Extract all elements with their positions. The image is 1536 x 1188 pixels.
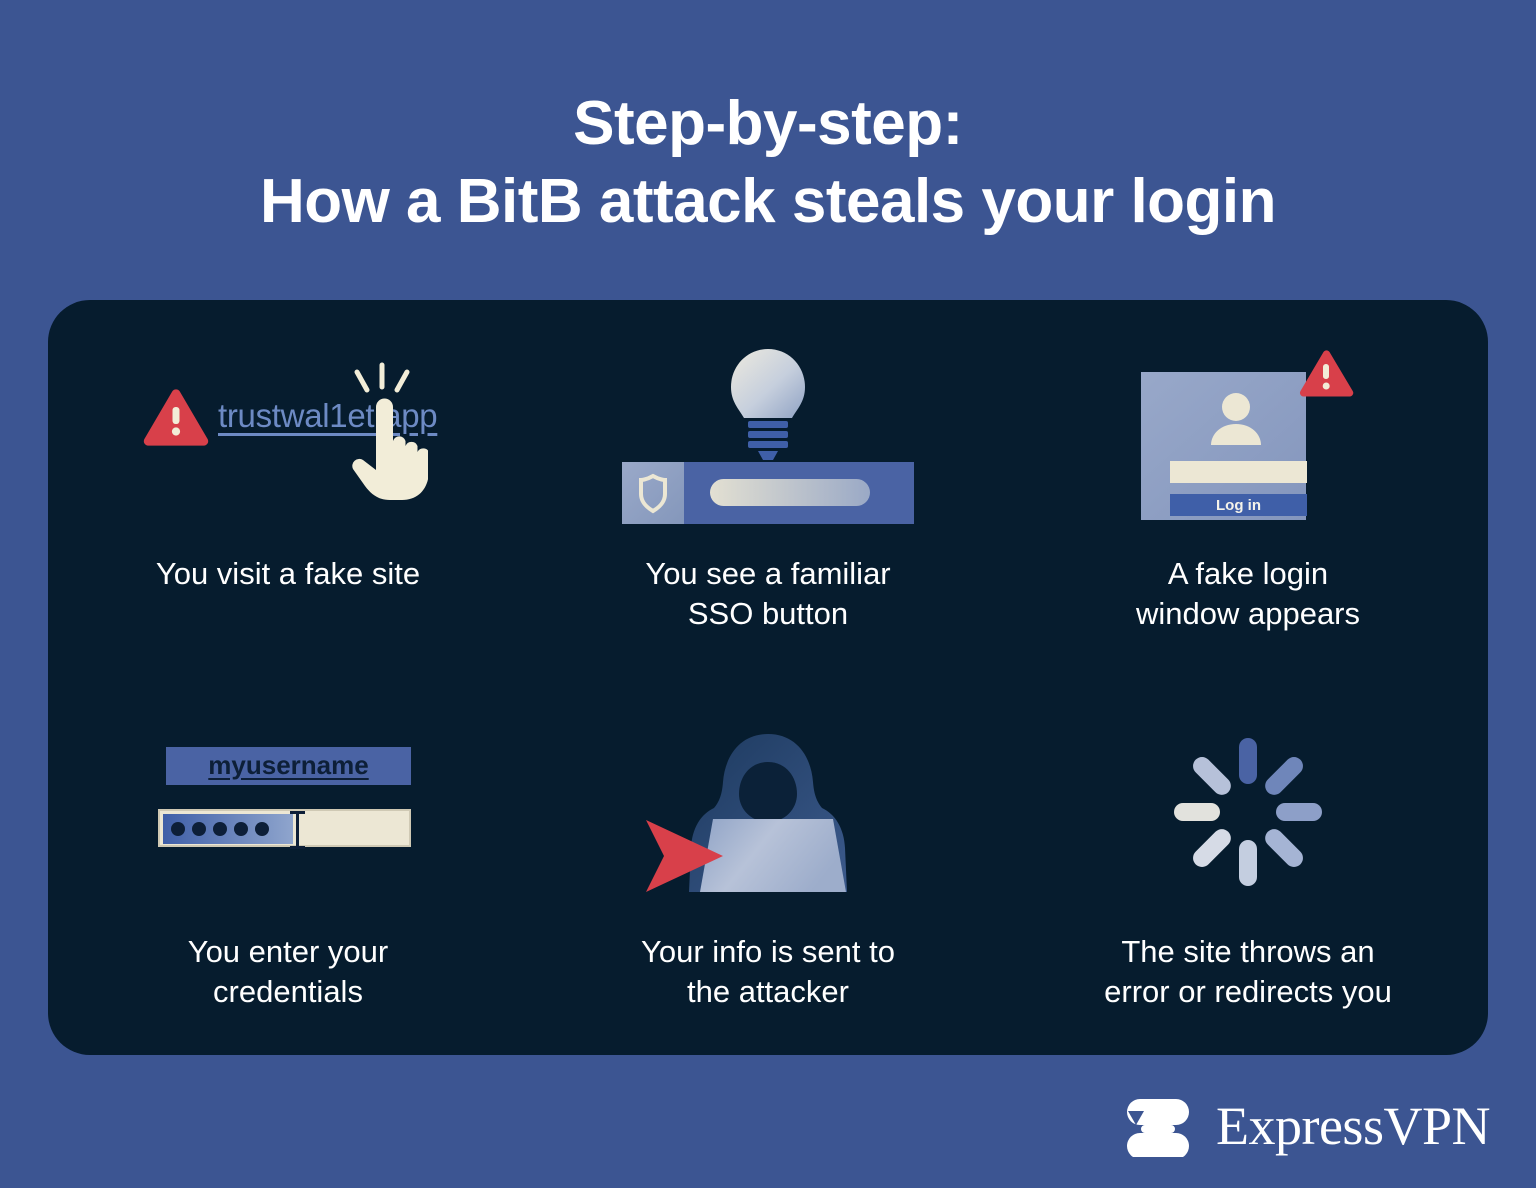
title-line-2: How a BitB attack steals your login [0, 162, 1536, 242]
sso-button-bar [622, 462, 914, 524]
step-visit-fake-site: trustwal1et.app [48, 300, 528, 678]
password-dot [192, 822, 206, 836]
step-5-caption: Your info is sent to the attacker [641, 932, 895, 1012]
step-2-artwork [528, 334, 1008, 534]
step-5-artwork [528, 712, 1008, 912]
steps-grid: trustwal1et.app [48, 300, 1488, 1055]
steps-card: trustwal1et.app [48, 300, 1488, 1055]
step-1-artwork: trustwal1et.app [48, 334, 528, 534]
step-enter-credentials: myusername You enter your crede [48, 678, 528, 1056]
password-field[interactable] [158, 809, 411, 847]
step-6-artwork [1008, 712, 1488, 912]
step-fake-login-window: Log in A fake login window appears [1008, 300, 1488, 678]
text-caret-icon [296, 811, 299, 849]
step-6-caption: The site throws an error or redirects yo… [1104, 932, 1392, 1012]
step-1-caption: You visit a fake site [156, 554, 420, 594]
password-selection [163, 814, 293, 844]
password-dot [213, 822, 227, 836]
expressvpn-wordmark: ExpressVPN [1216, 1099, 1490, 1153]
username-field[interactable]: myusername [166, 747, 411, 785]
step-error-or-redirect: The site throws an error or redirects yo… [1008, 678, 1488, 1056]
login-input-field [1170, 461, 1307, 483]
step-4-artwork: myusername [48, 712, 528, 912]
lightbulb-icon [731, 349, 805, 460]
username-value: myusername [166, 750, 411, 781]
step-info-sent-to-attacker: Your info is sent to the attacker [528, 678, 1008, 1056]
step-4-caption: You enter your credentials [188, 932, 389, 1012]
warning-triangle-icon [1300, 350, 1353, 396]
login-button-label[interactable]: Log in [1170, 494, 1307, 516]
expressvpn-e-mark-icon [1120, 1095, 1196, 1157]
password-dot [171, 822, 185, 836]
step-3-artwork: Log in [1008, 334, 1488, 534]
step-2-caption: You see a familiar SSO button [645, 554, 890, 634]
password-dot [234, 822, 248, 836]
expressvpn-logo: ExpressVPN [1120, 1095, 1490, 1157]
step-familiar-sso-button: You see a familiar SSO button [528, 300, 1008, 678]
pointing-hand-cursor-icon [336, 359, 428, 504]
step-3-caption: A fake login window appears [1136, 554, 1360, 634]
password-dot [255, 822, 269, 836]
warning-triangle-icon [142, 387, 210, 447]
title-line-1: Step-by-step: [0, 86, 1536, 162]
page-title: Step-by-step: How a BitB attack steals y… [0, 86, 1536, 242]
loading-spinner-icon [1168, 732, 1328, 892]
